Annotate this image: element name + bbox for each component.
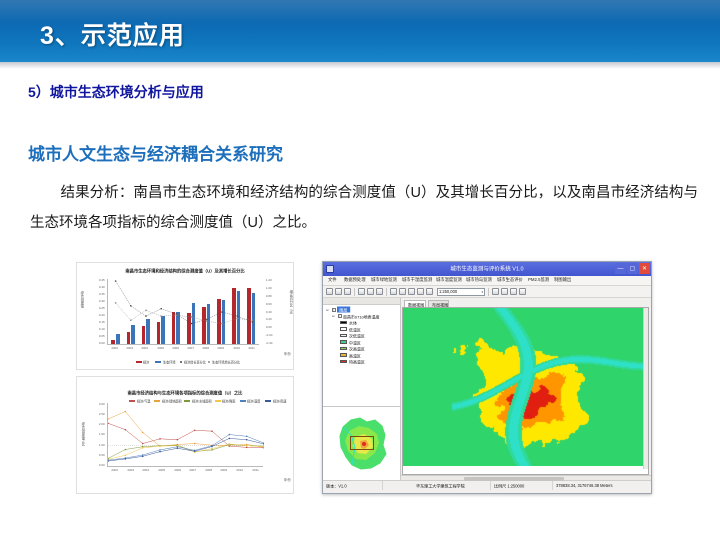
legend-item: 生态环境 (155, 360, 173, 364)
legend-swatch (340, 353, 347, 357)
y-tick-label: 1.00 (99, 443, 105, 447)
y2-tick-label: 0.00 (266, 326, 272, 330)
y-tick-label: 0.05 (99, 335, 105, 339)
gis-application-window[interactable]: 城市生态监测与评价系统 V1.0 — ▢ ✕ 文件数据预处理城市绿地监测城市干湿… (322, 261, 652, 494)
legend-row: 特高温区 (340, 359, 398, 364)
status-organization-text: 华东理工大学建筑工程学院 (416, 483, 465, 489)
overview-map-panel[interactable] (323, 406, 400, 480)
x-tick-label: 2007 (187, 347, 194, 351)
legend-label: 经济/风速 (273, 399, 286, 404)
line-chart-plot-area (107, 403, 263, 467)
legend-swatch (184, 400, 190, 402)
line-chart-y-ticks: 3.002.502.001.501.000.500.00 (89, 403, 105, 467)
y-tick-label: 0.50 (99, 453, 105, 457)
x-tick-label: 2006 (174, 469, 181, 473)
x-tick-label: 2004 (143, 469, 150, 473)
legend-label: 生态环境 (163, 360, 176, 365)
status-coordinates-text: 378838.34, 3176746.38 Meters (556, 483, 613, 488)
close-icon[interactable]: ✕ (639, 263, 650, 274)
legend-item: 经济/湿度 (240, 399, 258, 403)
refresh-icon[interactable] (408, 288, 415, 295)
toc-layer-label: 南昌市0710地表温度 (343, 313, 380, 319)
legend-swatch (129, 400, 135, 402)
legend-label: 经济增长百分比 (184, 360, 206, 365)
status-scale-text: 比例尺 1:250000 (494, 483, 524, 489)
x-tick-label: 2003 (126, 347, 133, 351)
legend-item: 经济/降雨 (215, 399, 233, 403)
y-tick-label: 0.25 (99, 307, 105, 311)
line-chart-image: 南昌市经济结构与生态环境各项指标的综合测度值（U）之比 综合测度值之比 3.00… (76, 376, 294, 494)
legend-item: 经济 (136, 360, 149, 364)
legend-label: 高温区 (349, 352, 361, 358)
gis-titlebar[interactable]: 城市生态监测与评价系统 V1.0 — ▢ ✕ (323, 262, 651, 276)
line-chart-legend: 经济/气温经济/绿地面积经济/水域面积经济/降雨经济/湿度经济/风速 (129, 399, 285, 403)
map-view-tabs[interactable]: 数据视图布局视图 (401, 298, 651, 307)
legend-label: 特高温区 (349, 359, 365, 365)
layers-icon[interactable] (519, 288, 526, 295)
legend-row: 水体 (340, 320, 398, 325)
y2-tick-label: 0.20 (266, 318, 272, 322)
x-tick-label: 2009 (218, 347, 225, 351)
minimize-icon[interactable]: — (615, 263, 626, 274)
line-chart-xlabel: 年份 (284, 477, 291, 482)
toolbar-separator (488, 288, 489, 296)
layer-checkbox[interactable]: ✓ (338, 314, 342, 318)
menu-item-8[interactable]: 制图输出 (554, 278, 571, 284)
legend-marker (208, 361, 210, 363)
map-scrollbar-horizontal[interactable] (401, 475, 651, 480)
y2-tick-label: 0.40 (266, 310, 272, 314)
x-tick-label: 2006 (172, 347, 179, 351)
save-icon[interactable] (344, 288, 351, 295)
legend-row: 中温区 (340, 340, 398, 345)
bar-chart-y-ticks: 0.450.400.350.300.250.200.150.100.050.00 (89, 279, 105, 345)
legend-swatch (240, 400, 246, 402)
legend-item: 经济/气温 (129, 399, 147, 403)
legend-label: 中温区 (349, 339, 361, 345)
gis-statusbar: 版本：V1.0 华东理工大学建筑工程学院 比例尺 1:250000 378838… (323, 480, 651, 490)
bar-chart-plot-area (107, 279, 259, 345)
menu-item-6[interactable]: 城市生态评价 (497, 278, 523, 284)
legend-label: 低温区 (349, 326, 361, 332)
bar-chart-image: 南昌市生态环境和经济结构的综合测度值（U）及其增长百分比 综合测度值 增长百分比… (76, 262, 294, 370)
legend-swatch (136, 361, 142, 363)
open-icon[interactable] (326, 288, 333, 295)
zoom-out-icon[interactable] (367, 288, 374, 295)
menu-item-2[interactable]: 城市绿地监测 (371, 278, 397, 284)
y2-tick-label: 1.20 (266, 279, 272, 283)
bar-chart-legend: 经济生态环境经济增长百分比生态环境增长百分比 (77, 360, 293, 364)
select-icon[interactable] (390, 288, 397, 295)
menu-item-0[interactable]: 文件 (328, 278, 337, 284)
measure-icon[interactable] (501, 288, 508, 295)
layer-checkbox[interactable]: ✓ (332, 308, 336, 312)
legend-swatch (265, 400, 271, 402)
y-tick-label: 0.40 (99, 286, 105, 290)
status-organization: 华东理工大学建筑工程学院 (383, 481, 491, 490)
toc-root-row[interactable]: ⊟ ✓ 图层 (326, 307, 398, 312)
line-chart-ylabel: 综合测度值之比 (79, 422, 84, 446)
y2-tick-label: 0.60 (266, 302, 272, 306)
y-tick-label: 0.45 (99, 279, 105, 283)
map-viewport[interactable] (402, 307, 649, 475)
paragraph-text: 结果分析：南昌市生态环境和经济结构的综合测度值（U）及其增长百分比，以及南昌市经… (30, 185, 698, 231)
toc-layer-row[interactable]: ⊟ ✓ 南昌市0710地表温度 (332, 314, 398, 319)
chevron-down-icon[interactable]: ⊟ (332, 314, 336, 318)
legend-marker (180, 361, 182, 363)
bar-chart-x-ticks: 2002200320042005200620072008200920102011 (107, 347, 259, 350)
topic-heading: 城市人文生态与经济耦合关系研究 (28, 140, 283, 165)
page-title: 3、示范应用 (40, 16, 185, 52)
legend-label: 次低温区 (349, 333, 365, 339)
y2-tick-label: 1.00 (266, 287, 272, 291)
map-tab-0[interactable]: 数据视图 (404, 300, 426, 307)
legend-label: 生态环境增长百分比 (212, 360, 240, 365)
map-scrollbar-vertical[interactable] (643, 308, 648, 469)
section-heading: 5）城市生态环境分析与应用 (28, 82, 204, 102)
layer-tree[interactable]: ⊟ ✓ 图层 ⊟ ✓ 南昌市0710地表温度 水体低温区次低温区中温区次高温区高… (323, 305, 400, 406)
layer-legend: 水体低温区次低温区中温区次高温区高温区特高温区 (326, 320, 398, 364)
pan-icon[interactable] (335, 288, 342, 295)
y-tick-label: 0.00 (99, 464, 105, 468)
legend-label: 次高温区 (349, 346, 365, 352)
toolbar-separator (354, 288, 355, 296)
legend-swatch (340, 347, 347, 351)
legend-item: 生态环境增长百分比 (208, 360, 234, 364)
y2-tick-label: -0.20 (266, 334, 273, 338)
line-chart-title: 南昌市经济结构与生态环境各项指标的综合测度值（U）之比 (39, 389, 331, 396)
legend-swatch (340, 340, 347, 344)
slide-header-banner: 3、示范应用 (0, 0, 720, 62)
y-tick-label: 0.10 (99, 328, 105, 332)
y2-tick-label: 0.80 (266, 294, 272, 298)
menu-item-7[interactable]: PM2.5监测 (528, 278, 549, 284)
legend-item: 经济增长百分比 (180, 360, 201, 364)
table-of-contents-panel[interactable]: ⊟ ✓ 图层 ⊟ ✓ 南昌市0710地表温度 水体低温区次低温区中温区次高温区高… (323, 298, 401, 480)
y-tick-label: 0.20 (99, 314, 105, 318)
info-icon[interactable] (510, 288, 517, 295)
legend-item: 经济/风速 (265, 399, 283, 403)
scale-value: 1:250,000 (439, 289, 457, 294)
y-tick-label: 3.00 (99, 403, 105, 407)
legend-swatch (340, 327, 347, 331)
status-version-text: 版本：V1.0 (326, 483, 347, 489)
y-tick-label: 2.50 (99, 413, 105, 417)
map-view-panel: 数据视图布局视图 (401, 298, 651, 480)
y-tick-label: 0.35 (99, 293, 105, 297)
body-paragraph: 结果分析：南昌市生态环境和经济结构的综合测度值（U）及其增长百分比，以及南昌市经… (30, 178, 698, 238)
legend-swatch (340, 334, 347, 338)
bar-chart-y2-ticks: 1.201.000.800.600.400.200.00-0.20-0.40 (267, 279, 281, 345)
status-coordinates: 378838.34, 3176746.38 Meters (553, 481, 651, 490)
slide: 3、示范应用 5）城市生态环境分析与应用 城市人文生态与经济耦合关系研究 结果分… (0, 0, 720, 540)
legend-label: 经济/气温 (137, 399, 150, 404)
gis-body: ⊟ ✓ 图层 ⊟ ✓ 南昌市0710地表温度 水体低温区次低温区中温区次高温区高… (323, 298, 651, 480)
bar-chart-y2label: 增长百分比（%） (287, 290, 292, 317)
legend-swatch (215, 400, 221, 402)
thermal-map-image[interactable] (403, 308, 647, 466)
legend-swatch (154, 400, 160, 402)
toc-header (323, 298, 400, 305)
status-version: 版本：V1.0 (323, 481, 383, 490)
chevron-down-icon[interactable]: ⊟ (326, 308, 330, 312)
scrollbar-thumb[interactable] (464, 477, 564, 481)
y-tick-label: 2.00 (99, 423, 105, 427)
legend-row: 高温区 (340, 353, 398, 358)
line-chart-x-ticks: 2002200320042005200620072008200920102011 (107, 469, 263, 472)
y2-tick-label: -0.40 (266, 342, 273, 346)
chevron-down-icon[interactable]: ▾ (481, 290, 483, 294)
x-tick-label: 2003 (127, 469, 134, 473)
gis-toolbar[interactable]: 1:250,000 ▾ (323, 286, 651, 298)
x-tick-label: 2005 (158, 469, 165, 473)
legend-swatch (340, 360, 347, 364)
y-tick-label: 0.30 (99, 300, 105, 304)
toolbar-separator (386, 288, 387, 296)
legend-swatch (340, 321, 347, 325)
x-tick-label: 2004 (142, 347, 149, 351)
x-tick-label: 2007 (190, 469, 197, 473)
x-tick-label: 2008 (203, 347, 210, 351)
x-tick-label: 2009 (221, 469, 228, 473)
status-scale: 比例尺 1:250000 (491, 481, 553, 490)
legend-row: 次低温区 (340, 333, 398, 338)
legend-label: 经济/水域面积 (192, 399, 212, 404)
legend-item: 经济/绿地面积 (154, 399, 177, 403)
line-chart-series (108, 403, 264, 467)
identify-icon[interactable] (492, 288, 499, 295)
x-tick-label: 2011 (248, 347, 254, 351)
x-tick-label: 2010 (233, 347, 240, 351)
banner-shadow (0, 62, 720, 69)
legend-item: 经济/水域面积 (184, 399, 207, 403)
legend-row: 次高温区 (340, 346, 398, 351)
overview-extent-rectangle[interactable] (350, 436, 374, 450)
legend-label: 经济/湿度 (247, 399, 260, 404)
x-tick-label: 2011 (252, 469, 258, 473)
legend-swatch (155, 361, 161, 363)
legend-label: 经济/降雨 (222, 399, 235, 404)
legend-label: 水体 (349, 320, 357, 326)
bar-chart-xlabel: 年份 (284, 351, 291, 356)
x-tick-label: 2002 (111, 469, 118, 473)
bar-chart-line-overlay (108, 279, 260, 345)
x-tick-label: 2005 (157, 347, 164, 351)
x-tick-label: 2002 (111, 347, 118, 351)
x-tick-label: 2008 (205, 469, 212, 473)
map-tab-1[interactable]: 布局视图 (428, 300, 450, 307)
legend-row: 低温区 (340, 327, 398, 332)
menu-item-5[interactable]: 城市热岛监测 (466, 278, 492, 284)
prev-extent-icon[interactable] (417, 288, 424, 295)
menu-item-1[interactable]: 数据预处理 (344, 278, 366, 284)
next-extent-icon[interactable] (426, 288, 433, 295)
gis-menubar[interactable]: 文件数据预处理城市绿地监测城市干湿度监测城市温度监测城市热岛监测城市生态评价PM… (323, 276, 651, 286)
x-tick-label: 2010 (236, 469, 243, 473)
maximize-icon[interactable]: ▢ (627, 263, 638, 274)
y-tick-label: 0.00 (99, 342, 105, 346)
menu-item-3[interactable]: 城市干湿度监测 (402, 278, 432, 284)
y-tick-label: 1.50 (99, 433, 105, 437)
bar-chart-ylabel: 综合测度值 (78, 291, 83, 308)
y-tick-label: 0.15 (99, 321, 105, 325)
full-extent-icon[interactable] (376, 288, 383, 295)
window-controls[interactable]: — ▢ ✕ (615, 263, 650, 274)
toc-root-label[interactable]: 图层 (337, 307, 350, 313)
legend-label: 经济 (143, 360, 149, 365)
clear-select-icon[interactable] (399, 288, 406, 295)
zoom-in-icon[interactable] (358, 288, 365, 295)
menu-item-4[interactable]: 城市温度监测 (436, 278, 462, 284)
scale-dropdown[interactable]: 1:250,000 ▾ (437, 288, 485, 296)
legend-label: 经济/绿地面积 (162, 399, 182, 404)
